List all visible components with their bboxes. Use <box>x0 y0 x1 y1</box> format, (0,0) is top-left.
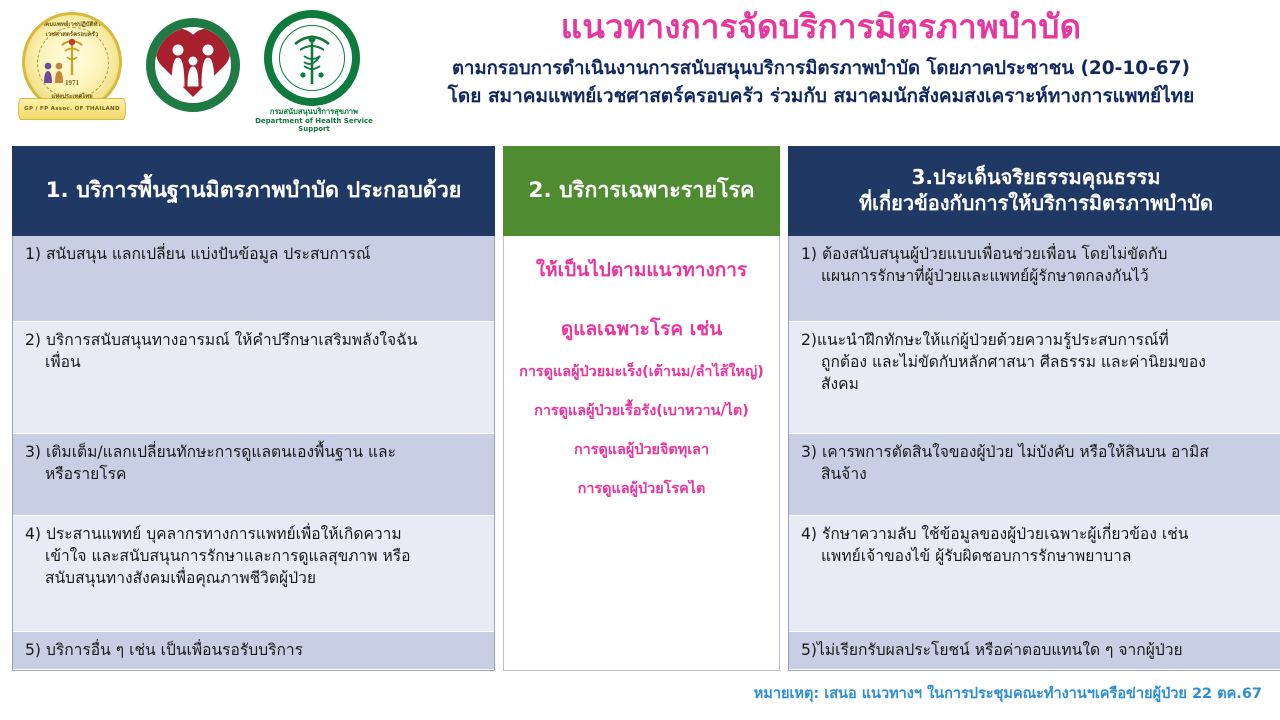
row-text-cont: แพทย์เจ้าของไข้ ผู้รับผิดชอบการรักษาพยาบ… <box>801 545 1273 567</box>
row-text-cont: เพื่อน <box>25 351 484 373</box>
row-text: 1) ต้องสนับสนุนผู้ป่วยแบบเพื่อนช่วยเพื่อ… <box>801 243 1273 265</box>
row-text-cont: สินจ้าง <box>801 463 1273 485</box>
seal-year-text: 1971 <box>25 79 119 87</box>
row-text: 5) บริการอื่น ๆ เช่น เป็นเพื่อนรอรับบริก… <box>25 639 484 661</box>
guideline-table: 1. บริการพื้นฐานมิตรภาพบำบัด ประกอบด้วย … <box>12 146 1268 670</box>
table-header-col-3: 3.ประเด็นจริยธรรมคุณธรรม ที่เกี่ยวข้องกั… <box>788 146 1280 236</box>
gold-seal-icon: สมาคมแพทย์เวชปฏิบัติทั่วไป/เวชศาสตร์ครอบ… <box>22 12 122 112</box>
table-header-col-2: 2. บริการเฉพาะรายโรค <box>503 146 780 236</box>
row-text: 4) รักษาความลับ ใช้ข้อมูลของผู้ป่วยเฉพาะ… <box>801 523 1273 545</box>
table-body-col-3: 1) ต้องสนับสนุนผู้ป่วยแบบเพื่อนช่วยเพื่อ… <box>788 236 1280 671</box>
page-subtitle-1: ตามกรอบการดำเนินงานการสนับสนุนบริการมิตร… <box>370 57 1272 81</box>
family-silhouette-icon <box>163 42 223 88</box>
table-body-col-1: 1) สนับสนุน แลกเปลี่ยน แบ่งปันข้อมูล ประ… <box>12 236 495 671</box>
row-text: 4) ประสานแพทย์ บุคลากรทางการแพทย์เพื่อให… <box>25 523 484 545</box>
footnote-text: หมายเหตุ: เสนอ แนวทางฯ ในการประชุมคณะทำง… <box>754 682 1262 705</box>
table-row: 3) เคารพการตัดสินใจของผู้ป่วย ไม่บังคับ … <box>789 434 1280 516</box>
table-row: 2)แนะนำฝึกทักษะให้แก่ผู้ป่วยด้วยความรู้ป… <box>789 322 1280 434</box>
row-text-cont2: สนับสนุนทางสังคมเพื่อคุณภาพชีวิตผู้ป่วย <box>25 567 484 589</box>
row-text-cont: แผนการรักษาที่ผู้ป่วยและแพทย์ผู้รักษาตกล… <box>801 265 1273 287</box>
table-row: 5) บริการอื่น ๆ เช่น เป็นเพื่อนรอรับบริก… <box>13 632 494 670</box>
green-ring-seal-icon <box>146 18 240 112</box>
row-text-cont: ถูกต้อง และไม่ขัดกับหลักศาสนา ศีลธรรม แล… <box>801 351 1273 373</box>
row-text: 2) บริการสนับสนุนทางอารมณ์ ให้คำปรึกษาเส… <box>25 329 484 351</box>
logo-strip: สมาคมแพทย์เวชปฏิบัติทั่วไป/เวชศาสตร์ครอบ… <box>14 6 378 132</box>
row-text: 5)ไม่เรียกรับผลประโยชน์ หรือค่าตอบแทนใด … <box>801 639 1273 661</box>
table-header-col-1: 1. บริการพื้นฐานมิตรภาพบำบัด ประกอบด้วย <box>12 146 495 236</box>
moph-seal-icon <box>264 10 360 106</box>
col2-item: การดูแลผู้ป่วยโรคไต <box>508 480 775 499</box>
table-body-col-2: ให้เป็นไปตามแนวทางการ ดูแลเฉพาะโรค เช่น … <box>503 236 780 671</box>
row-text-cont: หรือรายโรค <box>25 463 484 485</box>
page-subtitle-2: โดย สมาคมแพทย์เวชศาสตร์ครอบครัว ร่วมกับ … <box>370 84 1272 109</box>
moph-caption-english: Department of Health Service Support <box>246 117 382 133</box>
col2-lead-line-2: ดูแลเฉพาะโรค เช่น <box>508 317 775 342</box>
table-header-col-3-line1: 3.ประเด็นจริยธรรมคุณธรรม <box>859 165 1213 191</box>
col2-lead-line-1: ให้เป็นไปตามแนวทางการ <box>508 258 775 283</box>
title-block: แนวทางการจัดบริการมิตรภาพบำบัด ตามกรอบกา… <box>370 8 1272 109</box>
table-row: 5)ไม่เรียกรับผลประโยชน์ หรือค่าตอบแทนใด … <box>789 632 1280 670</box>
table-header-col-3-line2: ที่เกี่ยวข้องกับการให้บริการมิตรภาพบำบัด <box>859 191 1213 217</box>
thai-medical-social-workers-association-logo <box>136 6 246 126</box>
row-text: 1) สนับสนุน แลกเปลี่ยน แบ่งปันข้อมูล ประ… <box>25 243 484 265</box>
col2-item: การดูแลผู้ป่วยมะเร็ง(เต้านม/ลำไส้ใหญ่) <box>508 363 775 382</box>
caduceus-snakes-icon <box>289 30 335 86</box>
row-text: 2)แนะนำฝึกทักษะให้แก่ผู้ป่วยด้วยความรู้ป… <box>801 329 1273 351</box>
row-text: 3) เติมเต็ม/แลกเปลี่ยนทักษะการดูแลตนเองพ… <box>25 441 484 463</box>
row-text-cont2: สังคม <box>801 373 1273 395</box>
table-row: 1) สนับสนุน แลกเปลี่ยน แบ่งปันข้อมูล ประ… <box>13 236 494 322</box>
family-medicine-association-logo: สมาคมแพทย์เวชปฏิบัติทั่วไป/เวชศาสตร์ครอบ… <box>14 6 132 126</box>
table-row: 1) ต้องสนับสนุนผู้ป่วยแบบเพื่อนช่วยเพื่อ… <box>789 236 1280 322</box>
slide-root: สมาคมแพทย์เวชปฏิบัติทั่วไป/เวชศาสตร์ครอบ… <box>0 0 1280 720</box>
table-row: 3) เติมเต็ม/แลกเปลี่ยนทักษะการดูแลตนเองพ… <box>13 434 494 516</box>
col2-item: การดูแลผู้ป่วยจิตทุเลา <box>508 441 775 460</box>
row-text-cont: เข้าใจ และสนับสนุนการรักษาและการดูแลสุขภ… <box>25 545 484 567</box>
slide-header: สมาคมแพทย์เวชปฏิบัติทั่วไป/เวชศาสตร์ครอบ… <box>0 0 1280 142</box>
table-row: 2) บริการสนับสนุนทางอารมณ์ ให้คำปรึกษาเส… <box>13 322 494 434</box>
page-title: แนวทางการจัดบริการมิตรภาพบำบัด <box>370 8 1272 47</box>
table-row: 4) ประสานแพทย์ บุคลากรทางการแพทย์เพื่อให… <box>13 516 494 632</box>
row-text: 3) เคารพการตัดสินใจของผู้ป่วย ไม่บังคับ … <box>801 441 1273 463</box>
table-row: 4) รักษาความลับ ใช้ข้อมูลของผู้ป่วยเฉพาะ… <box>789 516 1280 632</box>
seal-ribbon-text: GP / FP Assoc. OF THAILAND <box>18 98 126 120</box>
col2-item: การดูแลผู้ป่วยเรื้อรัง(เบาหวาน/ไต) <box>508 402 775 421</box>
ministry-of-public-health-logo: กรมสนับสนุนบริการสุขภาพ Department of He… <box>250 6 378 132</box>
